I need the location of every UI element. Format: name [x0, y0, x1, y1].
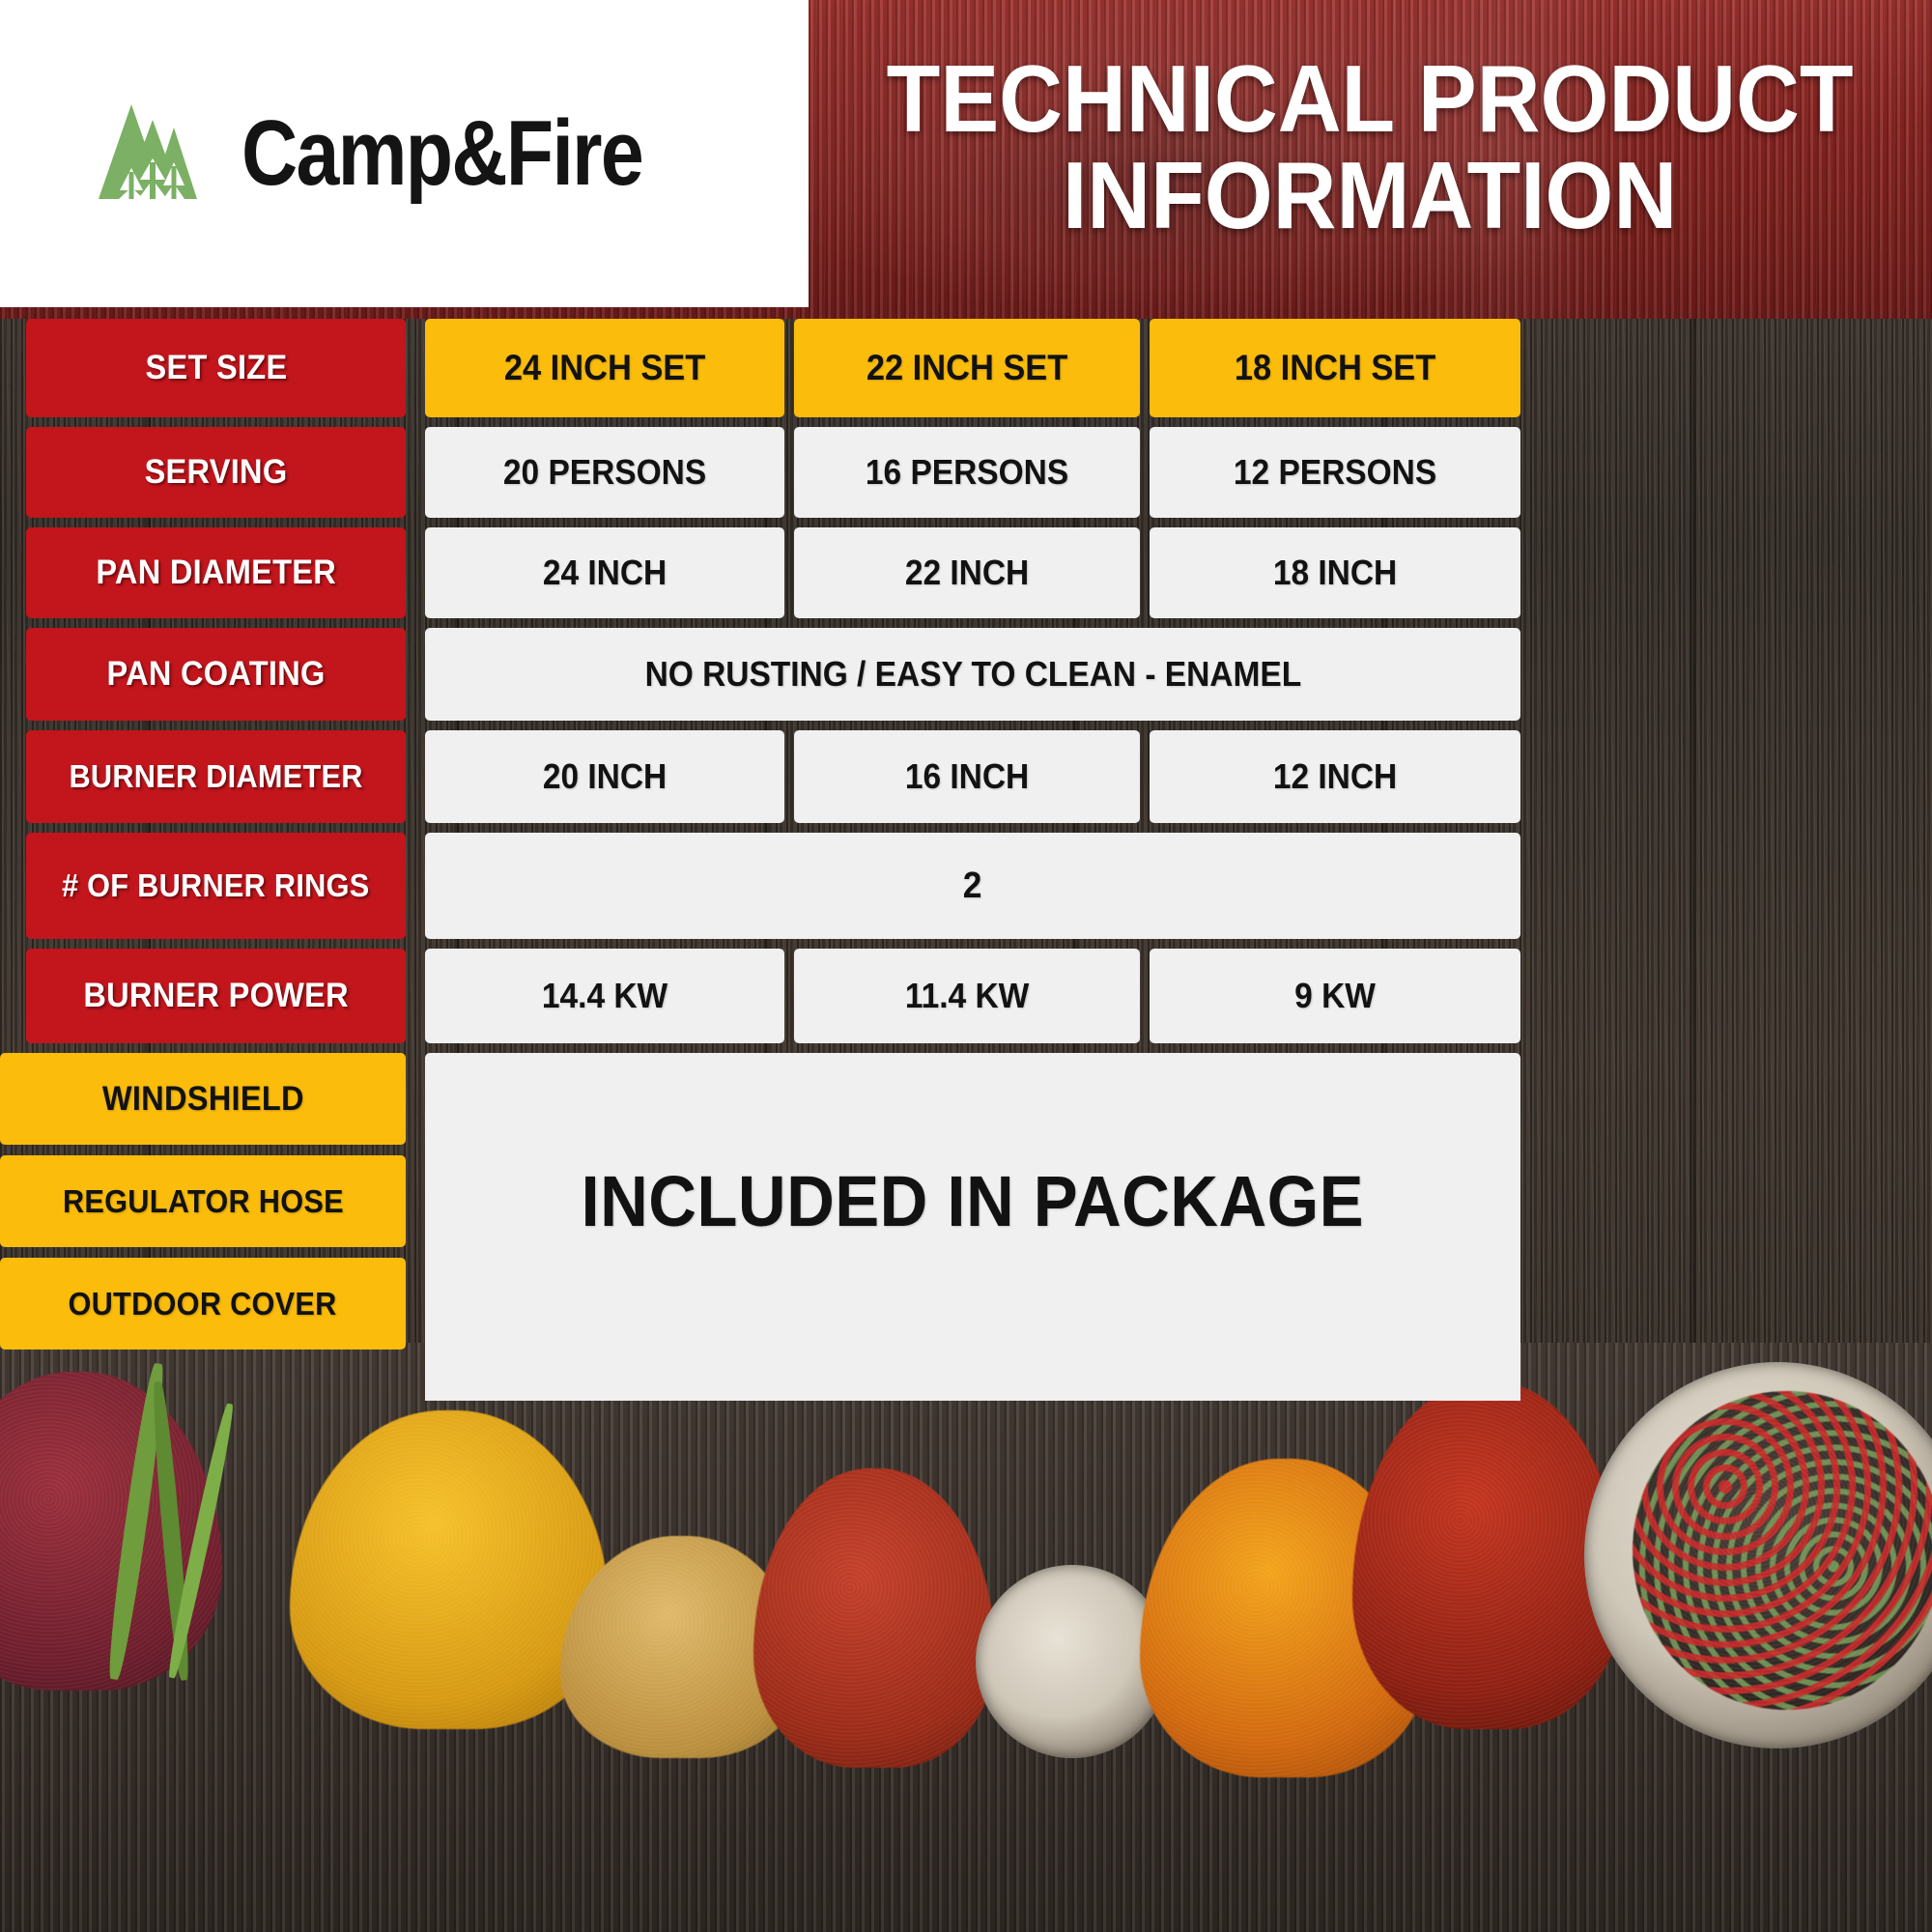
cell-pan-coating-all: NO RUSTING / EASY TO CLEAN - ENAMEL [425, 628, 1520, 721]
row-label-burner-power: BURNER POWER [26, 949, 406, 1043]
cell-set-size-18: 18 INCH SET [1150, 319, 1520, 417]
row-label-pan-diameter: PAN DIAMETER [26, 527, 406, 618]
table-row: PAN DIAMETER 24 INCH 22 INCH 18 INCH [0, 527, 1932, 618]
cell-burner-power-24: 14.4 KW [425, 949, 784, 1043]
row-label-burner-rings: # OF BURNER RINGS [26, 833, 406, 939]
table-row: PAN COATING NO RUSTING / EASY TO CLEAN -… [0, 628, 1932, 721]
title-line-1: TECHNICAL PRODUCT [887, 51, 1854, 148]
cell-pan-diameter-24: 24 INCH [425, 527, 784, 618]
row-label-pan-coating: PAN COATING [26, 628, 406, 721]
included-in-package-row: INCLUDED IN PACKAGE [0, 1053, 1932, 1350]
table-row: BURNER POWER 14.4 KW 11.4 KW 9 KW [0, 949, 1932, 1043]
cell-set-size-22: 22 INCH SET [794, 319, 1140, 417]
cell-burner-rings-all: 2 [425, 833, 1520, 939]
table-row: SET SIZE 24 INCH SET 22 INCH SET 18 INCH… [0, 319, 1932, 417]
cell-serving-18: 12 PERSONS [1150, 427, 1520, 518]
cell-serving-22: 16 PERSONS [794, 427, 1140, 518]
cell-burner-diameter-18: 12 INCH [1150, 730, 1520, 823]
table-row: SERVING 20 PERSONS 16 PERSONS 12 PERSONS [0, 427, 1932, 518]
cell-burner-diameter-22: 16 INCH [794, 730, 1140, 823]
cell-set-size-24: 24 INCH SET [425, 319, 784, 417]
cell-serving-24: 20 PERSONS [425, 427, 784, 518]
brand-logo-panel: Camp&Fire [0, 0, 809, 307]
table-row: BURNER DIAMETER 20 INCH 16 INCH 12 INCH [0, 730, 1932, 823]
cell-burner-power-22: 11.4 KW [794, 949, 1140, 1043]
cell-included-in-package: INCLUDED IN PACKAGE [425, 1053, 1520, 1350]
brand-name: Camp&Fire [241, 107, 642, 200]
cell-burner-diameter-24: 20 INCH [425, 730, 784, 823]
table-row: # OF BURNER RINGS 2 [0, 833, 1932, 939]
row-label-burner-diameter: BURNER DIAMETER [26, 730, 406, 823]
spec-table: SET SIZE 24 INCH SET 22 INCH SET 18 INCH… [0, 319, 1932, 1676]
row-label-set-size: SET SIZE [26, 319, 406, 417]
cell-pan-diameter-18: 18 INCH [1150, 527, 1520, 618]
page-title: TECHNICAL PRODUCT INFORMATION [819, 8, 1920, 288]
cell-pan-diameter-22: 22 INCH [794, 527, 1140, 618]
cell-burner-power-18: 9 KW [1150, 949, 1520, 1043]
row-label-serving: SERVING [26, 427, 406, 518]
title-line-2: INFORMATION [1063, 148, 1677, 244]
pine-trees-icon [89, 99, 216, 210]
